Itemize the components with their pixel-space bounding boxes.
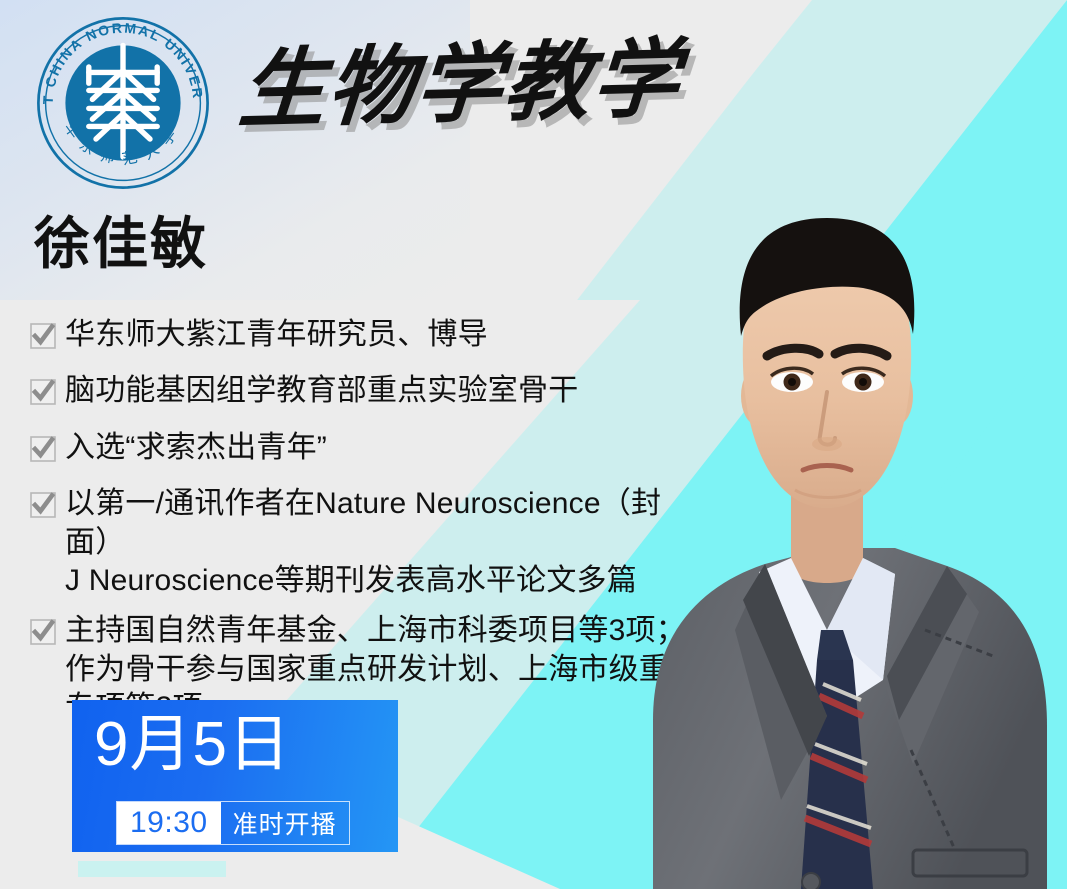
university-logo: EAST CHINA NORMAL UNIVERSITY 华东师范大学 <box>25 13 221 193</box>
checkbox-checked-icon <box>30 436 56 462</box>
checkbox-checked-icon <box>30 379 56 405</box>
speaker-portrait <box>595 160 1067 889</box>
list-item-label: 华东师大紫江青年研究员、博导 <box>65 316 488 354</box>
checkbox-checked-icon <box>30 492 56 518</box>
list-item-label: 入选“求索杰出青年” <box>65 429 327 467</box>
broadcast-date-card: 9月5日 19:30 准时开播 <box>72 700 398 852</box>
broadcast-time-row: 19:30 准时开播 <box>116 801 350 845</box>
checkbox-checked-icon <box>30 323 56 349</box>
poster-title: 生物学教学 <box>236 36 684 133</box>
mint-accent-strip <box>78 861 226 877</box>
poster-root: EAST CHINA NORMAL UNIVERSITY 华东师范大学 生物学教… <box>0 0 1067 889</box>
speaker-name: 徐佳敏 <box>34 216 208 272</box>
checkbox-checked-icon <box>30 619 56 645</box>
list-item-label: 脑功能基因组学教育部重点实验室骨干 <box>65 372 578 410</box>
broadcast-time: 19:30 <box>117 802 221 844</box>
broadcast-date: 9月5日 <box>94 710 291 779</box>
broadcast-note: 准时开播 <box>221 802 349 844</box>
